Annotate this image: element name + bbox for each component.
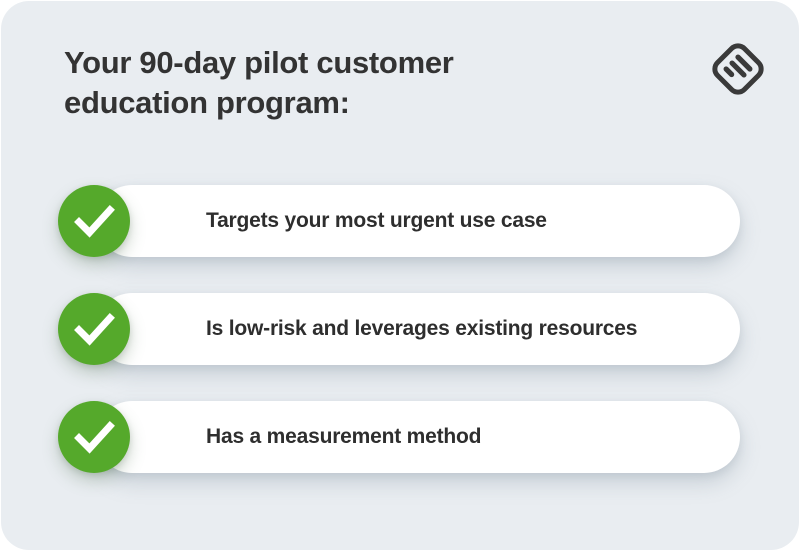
check-icon [58, 401, 130, 473]
list-item[interactable]: Has a measurement method [58, 401, 740, 473]
list-item[interactable]: Targets your most urgent use case [58, 185, 740, 257]
list-item-card[interactable]: Has a measurement method [96, 401, 740, 473]
list-item-card[interactable]: Is low-risk and leverages existing resou… [96, 293, 740, 365]
content-panel: Your 90-day pilot customer education pro… [1, 1, 799, 550]
check-icon [58, 293, 130, 365]
list-item-label: Targets your most urgent use case [206, 185, 547, 257]
list-item-label: Is low-risk and leverages existing resou… [206, 293, 637, 365]
check-icon [58, 185, 130, 257]
list-item-card[interactable]: Targets your most urgent use case [96, 185, 740, 257]
checklist: Targets your most urgent use case Is low… [1, 1, 799, 550]
slide-canvas: Your 90-day pilot customer education pro… [0, 0, 800, 551]
list-item[interactable]: Is low-risk and leverages existing resou… [58, 293, 740, 365]
list-item-label: Has a measurement method [206, 401, 481, 473]
